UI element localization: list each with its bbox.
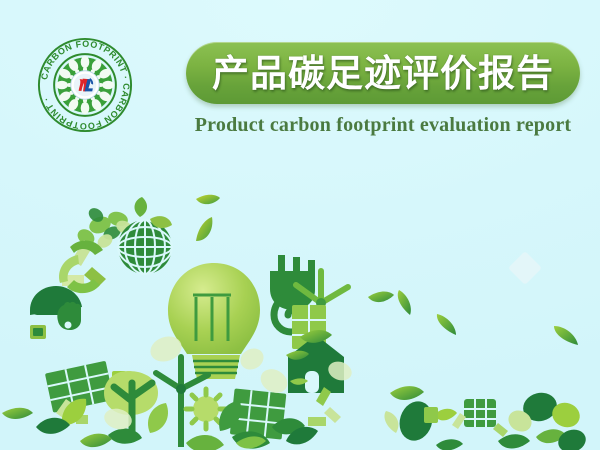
- leaf-icon: [390, 386, 424, 400]
- leaf-icon: [368, 292, 394, 303]
- report-title-banner: 产品碳足迹评价报告: [186, 42, 580, 104]
- recycle-icon: [59, 240, 106, 293]
- globe-icon: [118, 220, 172, 274]
- eco-footprint-illustration: [0, 175, 600, 450]
- leaf-icon: [554, 326, 578, 345]
- battery-icon: [30, 325, 46, 339]
- icon-cluster-upper: [30, 197, 172, 339]
- cover-page: CARBON FOOTPRINT · CARBON FOOTPRINT ·: [0, 0, 600, 450]
- leaf-icon: [437, 314, 456, 335]
- leaf-icon: [2, 408, 33, 419]
- carbon-footprint-seal-icon: CARBON FOOTPRINT · CARBON FOOTPRINT ·: [36, 36, 134, 134]
- page-subtitle: Product carbon footprint evaluation repo…: [186, 114, 580, 137]
- leaf-icon: [398, 290, 411, 315]
- leaf-icon: [196, 217, 212, 241]
- leaf-icon: [80, 434, 112, 448]
- header: CARBON FOOTPRINT · CARBON FOOTPRINT ·: [0, 0, 600, 170]
- leaf-icon: [196, 195, 220, 204]
- footprint-icon-secondary: [384, 389, 588, 450]
- page-title: 产品碳足迹评价报告: [212, 55, 554, 92]
